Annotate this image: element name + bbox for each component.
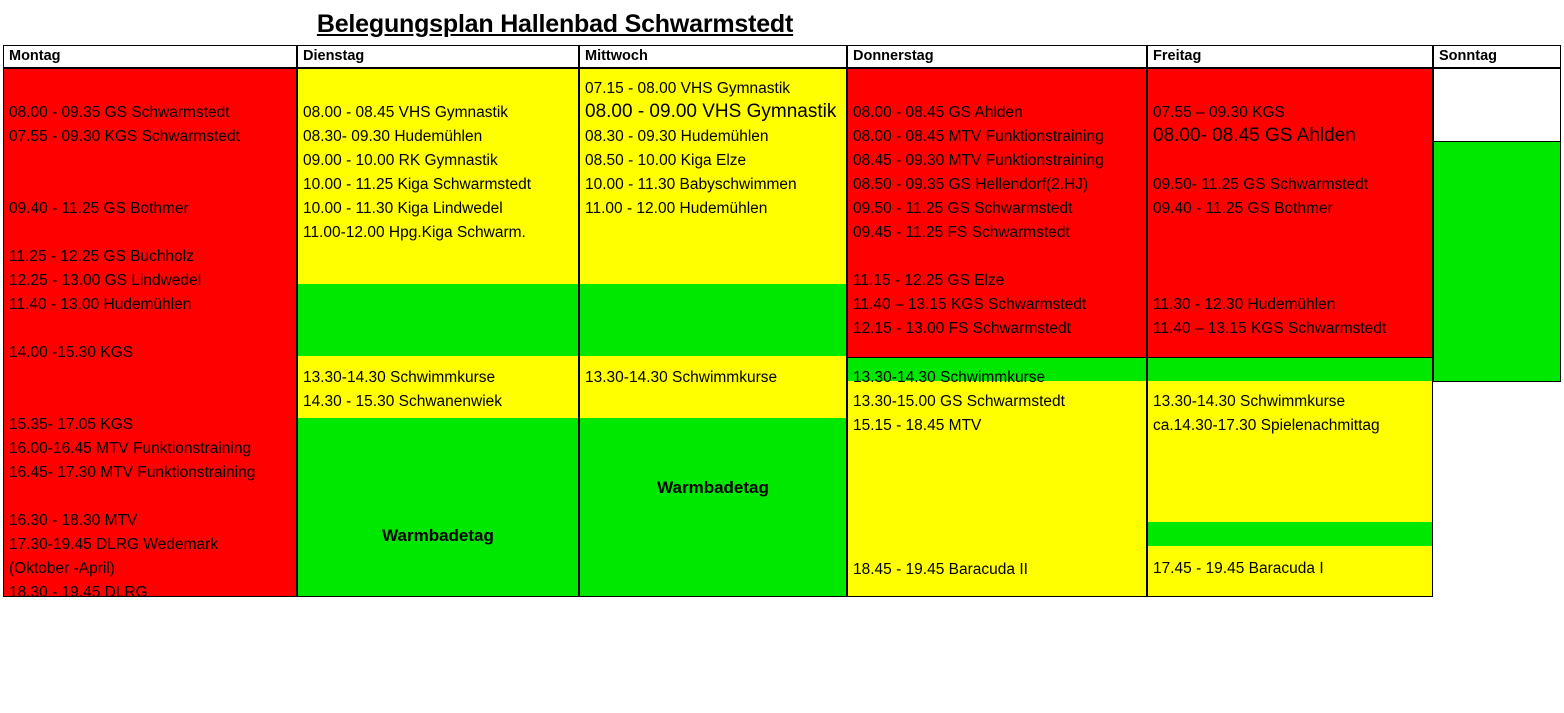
entry-montag-8: 15.35- 17.05 KGS xyxy=(9,417,133,433)
entry-montag-9: 16.00-16.45 MTV Funktionstraining xyxy=(9,441,251,457)
day-column-dienstag[interactable]: 08.00 - 08.45 VHS Gymnastik 08.30- 09.30… xyxy=(297,68,579,597)
entry-montag-11: 16.30 - 18.30 MTV xyxy=(9,513,137,529)
entry-donnerstag-9: 12.15 - 13.00 FS Schwarmstedt xyxy=(853,321,1071,337)
entry-donnerstag-11: 13.30-15.00 GS Schwarmstedt xyxy=(853,394,1065,410)
column-header-freitag: Freitag xyxy=(1147,45,1433,68)
entry-donnerstag-13: 18.45 - 19.45 Baracuda II xyxy=(853,562,1028,578)
band-public-dienstag-midday xyxy=(298,284,578,356)
entry-montag-1: 08.00 - 09.35 GS Schwarmstedt xyxy=(9,105,230,121)
entry-freitag-7: 13.30-14.30 Schwimmkurse xyxy=(1153,394,1345,410)
entry-mittwoch-2: 08.00 - 09.00 VHS Gymnastik xyxy=(585,102,836,122)
entry-freitag-1: 07.55 – 09.30 KGS xyxy=(1153,105,1285,121)
entry-donnerstag-7: 11.15 - 12.25 GS Elze xyxy=(853,273,1004,289)
band-public-freitag-evening xyxy=(1148,522,1432,546)
entry-donnerstag-3: 08.45 - 09.30 MTV Funktionstraining xyxy=(853,153,1104,169)
column-header-sonntag: Sonntag xyxy=(1433,45,1561,68)
day-column-donnerstag[interactable]: 08.00 - 08.45 GS Ahlden 08.00 - 08.45 MT… xyxy=(847,68,1147,597)
entry-montag-13: (Oktober -April) xyxy=(9,561,115,577)
day-column-montag[interactable]: 08.00 - 09.35 GS Schwarmstedt 07.55 - 09… xyxy=(3,68,297,597)
entry-donnerstag-6: 09.45 - 11.25 FS Schwarmstedt xyxy=(853,225,1070,241)
warmbadetag-label-dienstag: Warmbadetag xyxy=(298,526,578,546)
entry-dienstag-8: 14.30 - 15.30 Schwanenwiek xyxy=(303,394,502,410)
entry-montag-7: 14.00 -15.30 KGS xyxy=(9,345,133,361)
entry-montag-6: 11.40 - 13.00 Hudemühlen xyxy=(9,297,191,313)
entry-donnerstag-4: 08.50 - 09.35 GS Hellendorf(2.HJ) xyxy=(853,177,1088,193)
day-column-sonntag-empty[interactable] xyxy=(1433,68,1561,141)
band-public-dienstag-evening xyxy=(298,418,578,596)
entry-dienstag-2: 08.30- 09.30 Hudemühlen xyxy=(303,129,482,145)
entry-montag-3: 09.40 - 11.25 GS Bothmer xyxy=(9,201,189,217)
band-public-freitag-midday xyxy=(1148,357,1432,381)
band-public-mittwoch-evening xyxy=(580,418,846,596)
entry-montag-12: 17.30-19.45 DLRG Wedemark xyxy=(9,537,218,553)
entry-freitag-5: 11.30 - 12.30 Hudemühlen xyxy=(1153,297,1335,313)
entry-dienstag-1: 08.00 - 08.45 VHS Gymnastik xyxy=(303,105,508,121)
band-empty-sonntag xyxy=(1434,69,1560,141)
entry-dienstag-5: 10.00 - 11.30 Kiga Lindwedel xyxy=(303,201,503,217)
entry-mittwoch-5: 10.00 - 11.30 Babyschwimmen xyxy=(585,177,797,193)
entry-freitag-8: ca.14.30-17.30 Spielenachmittag xyxy=(1153,418,1380,434)
entry-mittwoch-3: 08.30 - 09.30 Hudemühlen xyxy=(585,129,769,145)
entry-freitag-4: 09.40 - 11.25 GS Bothmer xyxy=(1153,201,1333,217)
entry-montag-4: 11.25 - 12.25 GS Buchholz xyxy=(9,249,194,265)
entry-freitag-3: 09.50- 11.25 GS Schwarmstedt xyxy=(1153,177,1368,193)
entry-dienstag-4: 10.00 - 11.25 Kiga Schwarmstedt xyxy=(303,177,531,193)
entry-mittwoch-1: 07.15 - 08.00 VHS Gymnastik xyxy=(585,81,790,97)
entry-mittwoch-4: 08.50 - 10.00 Kiga Elze xyxy=(585,153,746,169)
column-header-mittwoch: Mittwoch xyxy=(579,45,847,68)
entry-mittwoch-6: 11.00 - 12.00 Hudemühlen xyxy=(585,201,767,217)
band-public-sonntag xyxy=(1434,142,1560,381)
entry-freitag-9: 17.45 - 19.45 Baracuda I xyxy=(1153,561,1324,577)
page-title: Belegungsplan Hallenbad Schwarmstedt xyxy=(0,10,1110,39)
entry-donnerstag-1: 08.00 - 08.45 GS Ahlden xyxy=(853,105,1023,121)
column-header-dienstag: Dienstag xyxy=(297,45,579,68)
day-column-freitag[interactable]: 07.55 – 09.30 KGS 08.00- 08.45 GS Ahlden… xyxy=(1147,68,1433,597)
entry-donnerstag-2: 08.00 - 08.45 MTV Funktionstraining xyxy=(853,129,1104,145)
entry-montag-2: 07.55 - 09.30 KGS Schwarmstedt xyxy=(9,129,240,145)
entry-dienstag-7: 13.30-14.30 Schwimmkurse xyxy=(303,370,495,386)
entry-dienstag-6: 11.00-12.00 Hpg.Kiga Schwarm. xyxy=(303,225,526,241)
day-column-mittwoch[interactable]: 07.15 - 08.00 VHS Gymnastik 08.00 - 09.0… xyxy=(579,68,847,597)
column-header-donnerstag: Donnerstag xyxy=(847,45,1147,68)
band-club-mittwoch-afternoon xyxy=(580,356,846,418)
entry-freitag-2: 08.00- 08.45 GS Ahlden xyxy=(1153,126,1356,146)
entry-donnerstag-12: 15.15 - 18.45 MTV xyxy=(853,418,981,434)
entry-montag-10: 16.45- 17.30 MTV Funktionstraining xyxy=(9,465,255,481)
column-header-montag: Montag xyxy=(3,45,297,68)
entry-montag-5: 12.25 - 13.00 GS Lindwedel xyxy=(9,273,201,289)
entry-donnerstag-8: 11.40 – 13.15 KGS Schwarmstedt xyxy=(853,297,1086,313)
entry-donnerstag-10: 13.30-14.30 Schwimmkurse xyxy=(853,370,1045,386)
entry-dienstag-3: 09.00 - 10.00 RK Gymnastik xyxy=(303,153,498,169)
entry-freitag-6: 11.40 – 13.15 KGS Schwarmstedt xyxy=(1153,321,1386,337)
entry-mittwoch-7: 13.30-14.30 Schwimmkurse xyxy=(585,370,777,386)
entry-montag-14: 18.30 - 19.45 DLRG xyxy=(9,585,148,597)
day-column-sonntag-public[interactable] xyxy=(1433,141,1561,382)
warmbadetag-label-mittwoch: Warmbadetag xyxy=(580,478,846,498)
entry-donnerstag-5: 09.50 - 11.25 GS Schwarmstedt xyxy=(853,201,1072,217)
band-public-mittwoch-midday xyxy=(580,284,846,356)
